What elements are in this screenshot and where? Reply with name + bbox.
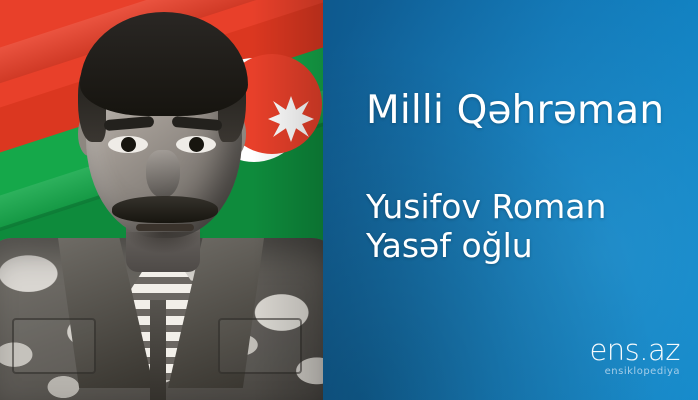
page-title: Milli Qəhrəman — [366, 88, 664, 133]
jacket-pocket-left — [12, 318, 96, 374]
site-logo-wordmark: ens.az — [575, 336, 680, 365]
site-logo[interactable]: ens.az ensiklopediya — [575, 336, 680, 372]
portrait-pupil-right — [189, 137, 204, 152]
portrait-nose — [146, 150, 180, 198]
portrait-moustache — [112, 196, 218, 223]
portrait-mouth — [136, 224, 194, 231]
site-logo-tagline: ensiklopediya — [575, 366, 680, 377]
hero-name-line-1: Yusifov Roman — [366, 188, 606, 227]
soldier-portrait — [0, 0, 323, 400]
jacket-pocket-right — [218, 318, 302, 374]
hero-name-line-2: Yasəf oğlu — [366, 227, 606, 266]
portrait-chin-shadow — [124, 232, 204, 254]
portrait-pupil-left — [121, 137, 136, 152]
hero-banner: Milli Qəhrəman Yusifov Roman Yasəf oğlu … — [0, 0, 698, 400]
hero-name: Yusifov Roman Yasəf oğlu — [366, 188, 606, 265]
hero-photo — [0, 0, 323, 400]
portrait-hair — [80, 12, 248, 116]
jacket-placket — [150, 300, 166, 400]
